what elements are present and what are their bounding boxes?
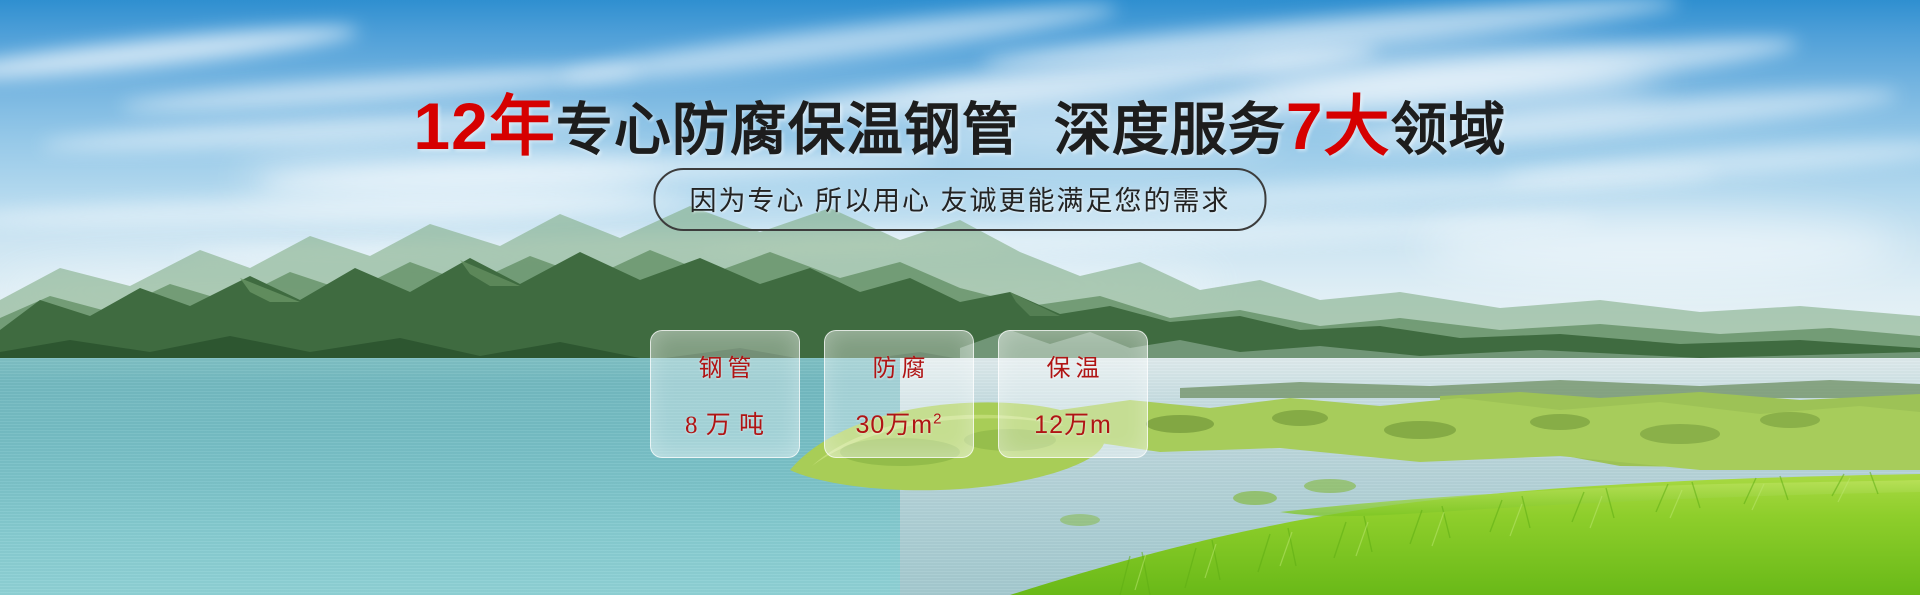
subtitle-pill: 因为专心 所以用心 友诚更能满足您的需求 [653, 168, 1266, 231]
stat-card-value: 12万m [1034, 405, 1112, 441]
stat-card-title: 钢管 [694, 348, 757, 383]
stat-card-value-number: 30万m [856, 411, 934, 439]
stat-card-value: 30万m2 [856, 405, 943, 441]
headline-seven: 7大 [1286, 89, 1391, 163]
stat-card-value: 8 万 吨 [685, 405, 765, 441]
stat-card-title: 保温 [1042, 348, 1105, 383]
stat-card-steel-pipe[interactable]: 钢管 8 万 吨 [650, 330, 800, 458]
hero-banner: 12年专心防腐保温钢管深度服务7大领域 因为专心 所以用心 友诚更能满足您的需求… [0, 0, 1920, 595]
stat-card-title: 防腐 [868, 348, 931, 383]
headline-service: 深度服务 [1054, 98, 1286, 162]
page-title: 12年专心防腐保温钢管深度服务7大领域 [0, 90, 1920, 164]
headline-main: 专心防腐保温钢管 [556, 98, 1020, 162]
stat-card-value-superscript: 2 [933, 410, 942, 427]
headline-years: 12年 [413, 89, 555, 163]
stat-card-group: 钢管 8 万 吨 防腐 30万m2 保温 12万m [650, 330, 1148, 458]
stat-card-anticorrosion[interactable]: 防腐 30万m2 [824, 330, 974, 458]
subtitle-text: 因为专心 所以用心 友诚更能满足您的需求 [689, 186, 1230, 216]
headline-fields: 领域 [1391, 98, 1507, 162]
stat-card-insulation[interactable]: 保温 12万m [998, 330, 1148, 458]
